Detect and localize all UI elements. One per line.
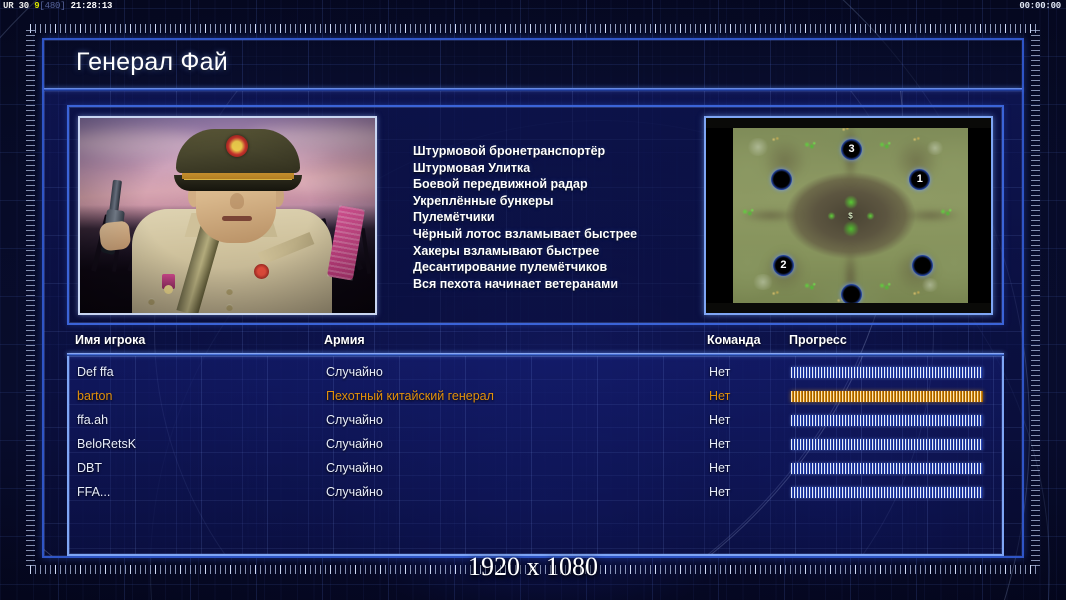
map-resource [879,141,891,150]
map-resource [804,282,816,291]
player-army[interactable]: Случайно [326,461,383,475]
map-start-position[interactable] [841,284,862,305]
map-start-position[interactable] [912,255,933,276]
map-preview[interactable]: $ 3 1 2 [704,116,993,315]
player-team[interactable]: Нет [709,437,730,451]
map-blot [921,278,939,292]
table-row[interactable]: FFA... Случайно Нет [69,482,1002,506]
map-resource [940,208,952,217]
player-army[interactable]: Пехотный китайский генерал [326,389,494,403]
ability-item: Боевой передвижной радар [413,176,713,193]
player-team[interactable]: Нет [709,365,730,379]
player-name: barton [77,389,112,403]
table-row[interactable]: ffa.ah Случайно Нет [69,410,1002,434]
player-name: ffa.ah [77,413,108,427]
table-row[interactable]: barton Пехотный китайский генерал Нет [69,386,1002,410]
player-team[interactable]: Нет [709,461,730,475]
status-label: UR [3,1,13,11]
table-row[interactable]: Def ffa Случайно Нет [69,362,1002,386]
map-resource [804,141,816,150]
ruler-top-decoration [30,24,1036,33]
column-header-name: Имя игрока [75,333,145,347]
map-resource [742,208,754,217]
ability-item: Десантирование пулемётчиков [413,259,713,276]
column-header-team: Команда [707,333,761,347]
player-army[interactable]: Случайно [326,365,383,379]
general-portrait [78,116,377,315]
map-letterbox [706,118,991,128]
player-progress-bar [791,391,983,402]
status-bar: UR 30 9[480] 21:28:13 00:00:00 [0,0,1066,13]
dialog-title-bar: Генерал Фай [44,40,1022,88]
player-list-panel: Def ffa Случайно Нет barton Пехотный кит… [67,356,1004,556]
general-abilities-list: Штурмовой бронетранспортёр Штурмовая Ули… [413,143,713,292]
player-team[interactable]: Нет [709,389,730,403]
status-clock: 21:28:13 [71,1,113,11]
player-table-header: Имя игрока Армия Команда Прогресс [67,333,1004,353]
player-army[interactable]: Случайно [326,485,383,499]
map-start-position[interactable]: 2 [773,255,794,276]
player-progress-bar [791,415,983,426]
player-name: FFA... [77,485,110,499]
ability-item: Хакеры взламывают быстрее [413,243,713,260]
map-oil-derrick [771,290,780,297]
map-resource [879,282,891,291]
ruler-right-decoration [1031,30,1040,570]
player-name: Def ffa [77,365,114,379]
general-info-dialog: Генерал Фай [42,38,1024,558]
ability-item: Штурмовой бронетранспортёр [413,143,713,160]
map-start-position[interactable]: 1 [909,169,930,190]
ability-item: Укреплённые бункеры [413,193,713,210]
map-center-label: $ [848,211,852,220]
player-progress-bar [791,439,983,450]
status-bracket: [480] [39,1,65,11]
player-name: BeloRetsK [77,437,136,451]
status-value-1: 30 [19,1,29,11]
ability-item: Пулемётчики [413,209,713,226]
portrait-vignette [80,118,375,313]
map-oil-derrick [912,136,921,143]
column-header-army: Армия [324,333,365,347]
game-screen: UR 30 9[480] 21:28:13 00:00:00 Генерал Ф… [0,0,1066,600]
player-army[interactable]: Случайно [326,437,383,451]
status-bar-left: UR 30 9[480] 21:28:13 [3,0,112,13]
ability-item: Вся пехота начинает ветеранами [413,276,713,293]
column-header-progress: Прогресс [789,333,847,347]
player-team[interactable]: Нет [709,485,730,499]
table-row[interactable]: BeloRetsK Случайно Нет [69,434,1002,458]
map-oil-derrick [771,136,780,143]
table-row[interactable]: DBT Случайно Нет [69,458,1002,482]
general-summary-panel: Штурмовой бронетранспортёр Штурмовая Ули… [67,105,1004,325]
map-terrain: $ 3 1 2 [733,118,968,313]
resolution-overlay: 1920 x 1080 [0,552,1066,582]
map-start-position[interactable] [771,169,792,190]
ability-item: Штурмовая Улитка [413,160,713,177]
player-army[interactable]: Случайно [326,413,383,427]
dialog-content: Штурмовой бронетранспортёр Штурмовая Ули… [44,91,1022,556]
player-team[interactable]: Нет [709,413,730,427]
portrait-image [80,118,375,313]
player-progress-bar [791,463,983,474]
player-progress-bar [791,367,983,378]
ruler-left-decoration [26,30,35,570]
map-blot [747,138,769,156]
map-letterbox [706,303,991,313]
player-progress-bar [791,487,983,498]
player-name: DBT [77,461,102,475]
page-title: Генерал Фай [76,48,228,77]
map-blot [752,274,774,290]
map-oil-derrick [912,290,921,297]
status-timer: 00:00:00 [1019,0,1061,13]
ability-item: Чёрный лотос взламывает быстрее [413,226,713,243]
